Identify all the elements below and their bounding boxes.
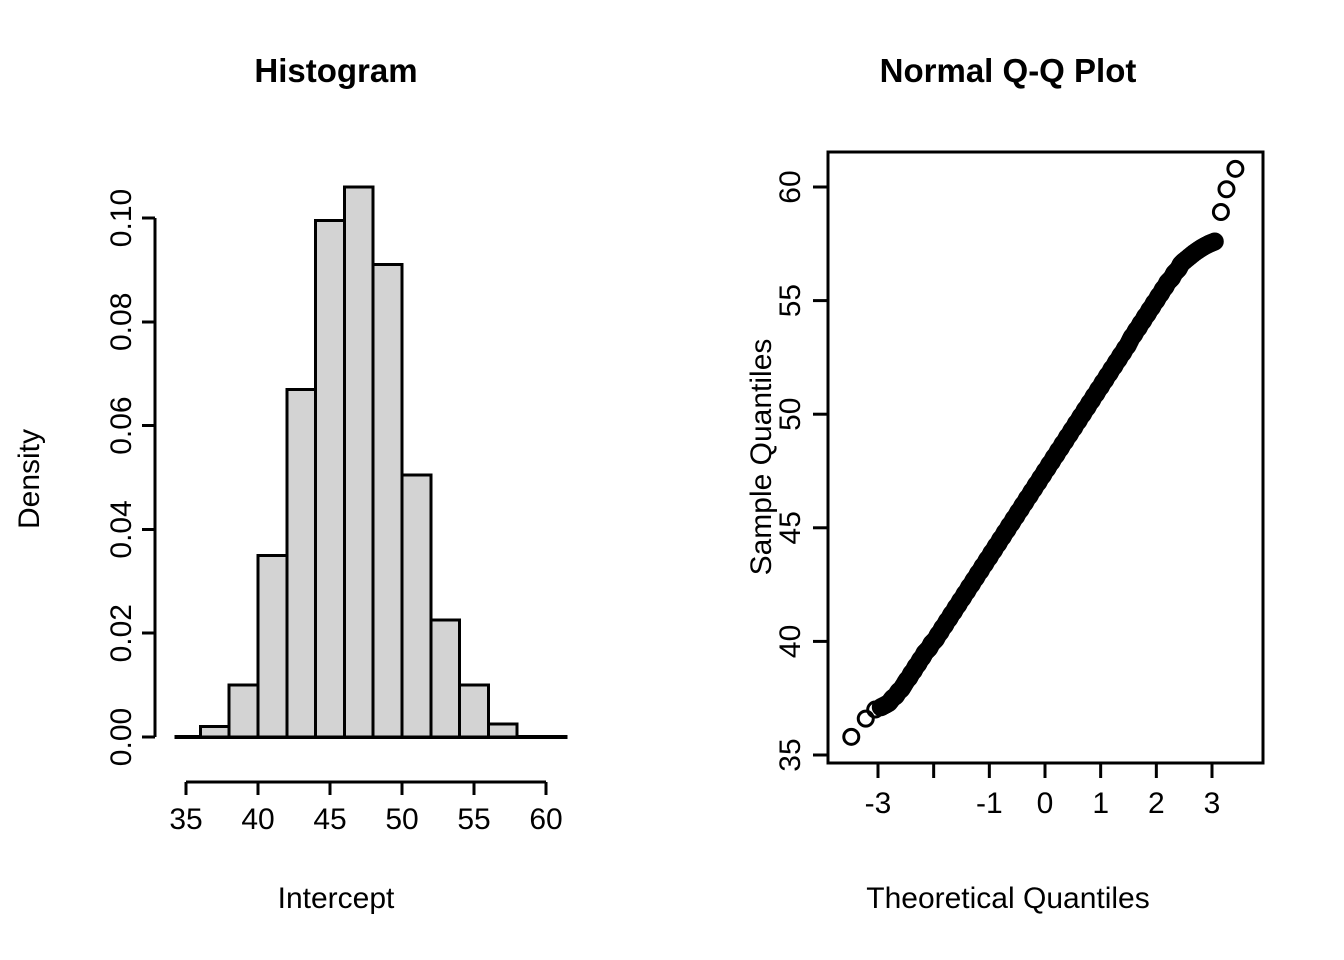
histogram-bar: [488, 724, 517, 737]
histogram-y-tick-label: 0.08: [105, 293, 138, 351]
qq-point: [844, 729, 859, 744]
histogram-x-tick-label: 40: [241, 803, 274, 836]
histogram-bar: [200, 727, 229, 737]
histogram-y-tick-label: 0.00: [105, 708, 138, 766]
histogram-y-tick-label: 0.02: [105, 604, 138, 662]
qq-y-axis-label: Sample Quantiles: [745, 257, 779, 657]
qq-x-tick-label: 0: [1037, 787, 1054, 820]
qq-y-tick-label: 60: [774, 170, 807, 203]
histogram-bar: [460, 685, 489, 737]
qq-plot-area: 354045505560-3-10123: [774, 152, 1263, 820]
qq-x-tick-label: 1: [1092, 787, 1109, 820]
qq-plot-panel: Normal Q-Q Plot 354045505560-3-10123 The…: [672, 0, 1344, 960]
histogram-bar: [373, 265, 402, 737]
qq-point: [1228, 161, 1243, 176]
qq-x-tick-label: -1: [976, 787, 1003, 820]
histogram-bar: [229, 685, 258, 737]
histogram-x-axis-label: Intercept: [0, 882, 672, 916]
histogram-canvas: 0.000.020.040.060.080.10354045505560: [0, 0, 672, 960]
histogram-bar: [258, 555, 287, 737]
histogram-bar: [402, 475, 431, 737]
qq-y-axis: 354045505560: [774, 170, 828, 771]
histogram-panel: Histogram 0.000.020.040.060.080.10354045…: [0, 0, 672, 960]
histogram-x-tick-label: 35: [169, 803, 202, 836]
histogram-bar: [316, 221, 345, 737]
histogram-y-axis: 0.000.020.040.060.080.10: [105, 189, 155, 766]
histogram-x-tick-label: 60: [529, 803, 562, 836]
qq-x-tick-label: 3: [1204, 787, 1221, 820]
qq-point: [858, 711, 873, 726]
qq-y-tick-label: 35: [774, 738, 807, 771]
qq-x-tick-label: 2: [1148, 787, 1165, 820]
histogram-bar: [431, 620, 460, 737]
histogram-plot-area: 0.000.020.040.060.080.10354045505560: [105, 187, 568, 836]
histogram-y-axis-label: Density: [13, 389, 47, 569]
qq-point: [1219, 182, 1234, 197]
plot-page: Histogram 0.000.020.040.060.080.10354045…: [0, 0, 1344, 960]
qq-point: [1213, 204, 1228, 219]
histogram-y-tick-label: 0.06: [105, 396, 138, 454]
histogram-bar: [344, 187, 373, 737]
histogram-x-axis: 354045505560: [169, 782, 562, 836]
qq-x-axis-label: Theoretical Quantiles: [672, 882, 1344, 916]
histogram-y-tick-label: 0.04: [105, 500, 138, 558]
histogram-x-tick-label: 50: [385, 803, 418, 836]
histogram-bar: [287, 389, 316, 737]
qq-x-tick-label: -3: [865, 787, 892, 820]
qq-x-axis: -3-10123: [865, 763, 1221, 820]
histogram-bars: [200, 187, 517, 737]
histogram-x-tick-label: 45: [313, 803, 346, 836]
histogram-x-tick-label: 55: [457, 803, 490, 836]
qq-data-points: [844, 161, 1243, 744]
histogram-y-tick-label: 0.10: [105, 189, 138, 247]
